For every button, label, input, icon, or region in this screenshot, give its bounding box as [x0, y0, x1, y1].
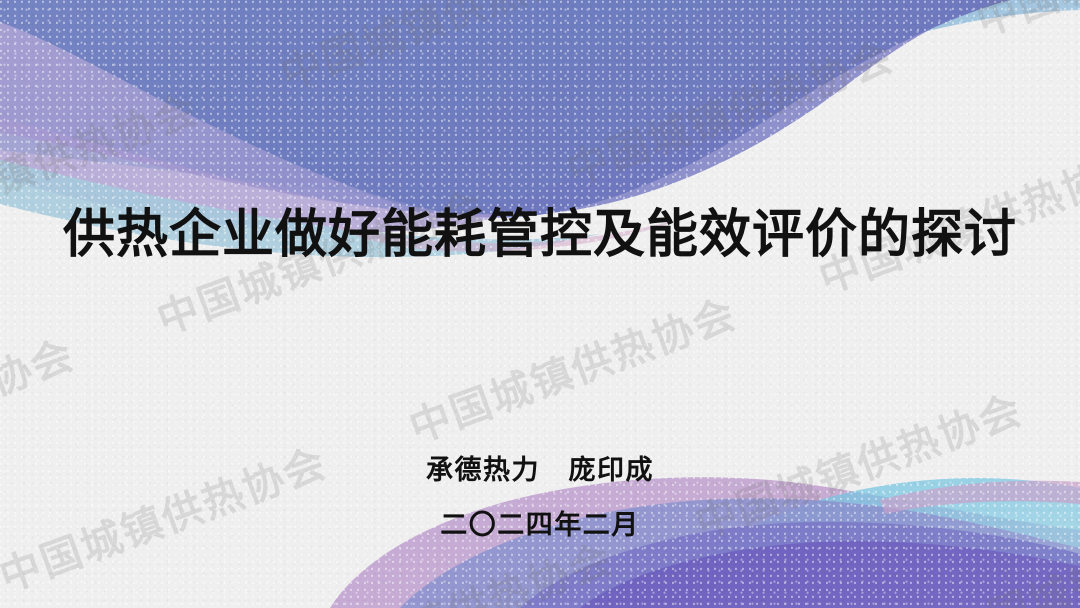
- title-slide: 中国城镇供热协会 中国城镇供热协会 中国城镇供热协会 中国城镇供热协会 中国城镇…: [0, 0, 1080, 608]
- date-line: 二〇二四年二月: [0, 503, 1080, 542]
- slide-content: 供热企业做好能耗管控及能效评价的探讨 承德热力 庞印成 二〇二四年二月: [0, 0, 1080, 608]
- presenter-line: 承德热力 庞印成: [0, 448, 1080, 487]
- page-title: 供热企业做好能耗管控及能效评价的探讨: [0, 206, 1080, 266]
